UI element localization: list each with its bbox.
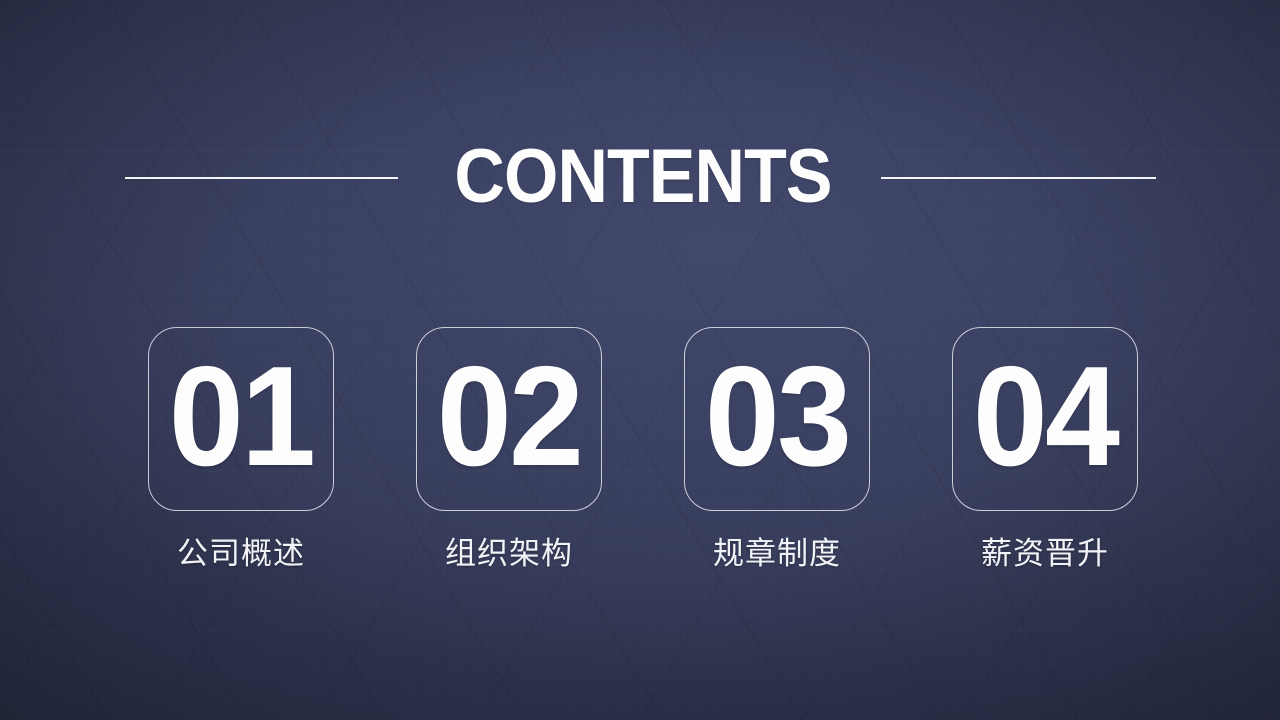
contents-item-list: 01 公司概述 02 组织架构 03 规章制度 04 薪资晋 [148,327,1138,571]
slide-title-row: CONTENTS [0,138,1280,216]
presentation-slide: CONTENTS 01 公司概述 02 组织架构 03 规章制度 [0,0,1280,720]
number-label: 02 [437,346,581,488]
number-badge-03[interactable]: 03 [684,327,870,511]
title-divider-right [881,177,1156,179]
number-badge-02[interactable]: 02 [416,327,602,511]
contents-item-04[interactable]: 04 薪资晋升 [952,327,1138,571]
item-title-02: 组织架构 [445,537,573,571]
item-title-04: 薪资晋升 [981,537,1109,571]
number-badge-04[interactable]: 04 [952,327,1138,511]
item-title-03: 规章制度 [713,537,841,571]
page-title: CONTENTS [454,138,831,216]
number-label: 04 [973,346,1117,488]
title-divider-left [125,177,398,179]
contents-item-03[interactable]: 03 规章制度 [684,327,870,571]
item-title-01: 公司概述 [177,537,305,571]
slide-content: CONTENTS 01 公司概述 02 组织架构 03 规章制度 [0,0,1280,720]
contents-item-02[interactable]: 02 组织架构 [416,327,602,571]
number-label: 03 [705,346,849,488]
number-label: 01 [169,346,313,488]
contents-item-01[interactable]: 01 公司概述 [148,327,334,571]
number-badge-01[interactable]: 01 [148,327,334,511]
